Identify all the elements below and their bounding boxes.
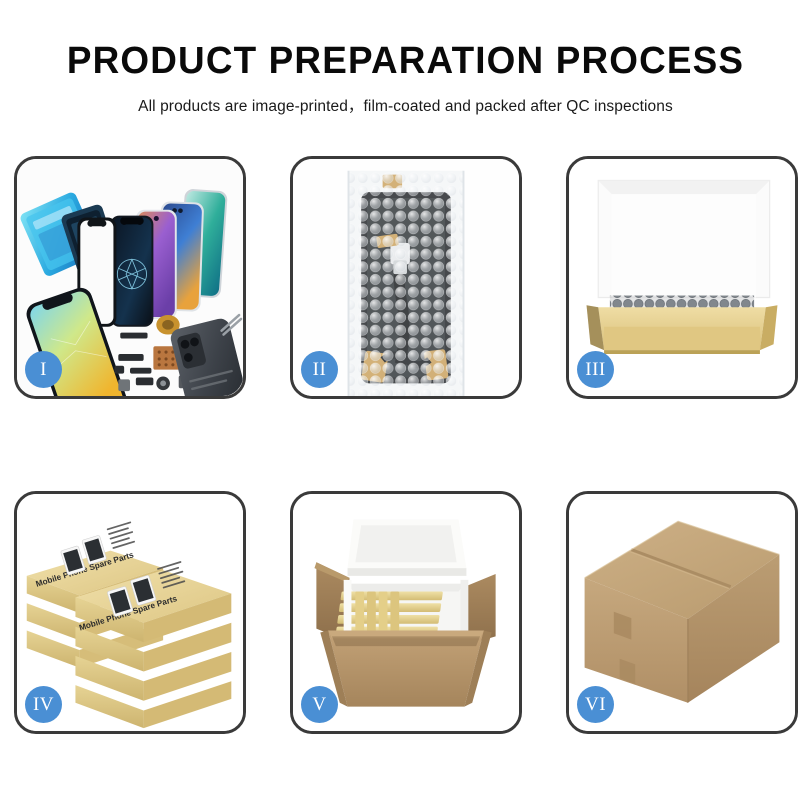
process-step-panel-5: V <box>290 491 522 734</box>
step-badge-6: VI <box>577 686 614 723</box>
process-step-panel-1: I <box>14 156 246 399</box>
process-step-panel-3: III <box>566 156 798 399</box>
process-step-panel-2: II <box>290 156 522 399</box>
page-title: PRODUCT PREPARATION PROCESS <box>12 42 799 82</box>
step-badge-3: III <box>577 351 614 388</box>
step-badge-1: I <box>25 351 62 388</box>
step-badge-4: IV <box>25 686 62 723</box>
process-step-panel-6: VI <box>566 491 798 734</box>
process-step-panel-4: Mobile Phone Spare Parts <box>14 491 246 734</box>
header: PRODUCT PREPARATION PROCESS All products… <box>0 0 811 116</box>
step-badge-5: V <box>301 686 338 723</box>
step-badge-2: II <box>301 351 338 388</box>
process-panel-grid: I <box>14 156 797 734</box>
page-subtitle: All products are image-printed，film-coat… <box>0 94 811 116</box>
